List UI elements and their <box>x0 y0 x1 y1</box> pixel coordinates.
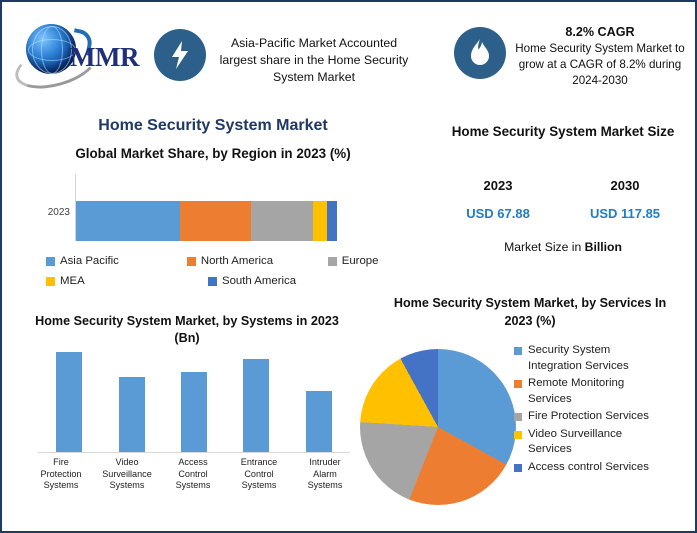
legend-item-north-america[interactable]: North America <box>187 255 328 267</box>
systems-category-label-1: VideoSurveillanceSystems <box>94 457 160 492</box>
legend-label: Asia Pacific <box>60 255 119 267</box>
systems-category-label-2: AccessControlSystems <box>160 457 226 492</box>
systems-chart-title: Home Security System Market, by Systems … <box>22 313 352 347</box>
legend-swatch-icon <box>46 277 55 286</box>
globe-icon <box>26 24 76 74</box>
market-size-value-2030: USD 117.85 <box>568 206 682 221</box>
services-legend-item-3[interactable]: Video SurveillanceServices <box>514 427 692 458</box>
systems-chart-category-labels: FireProtectionSystemsVideoSurveillanceSy… <box>28 457 358 492</box>
systems-chart-baseline <box>38 452 350 453</box>
infographic-page: MMR Asia-Pacific Market Accounted larges… <box>0 0 697 533</box>
region-chart-subtitle: Global Market Share, by Region in 2023 (… <box>18 146 408 161</box>
systems-category-label-4: IntruderAlarmSystems <box>292 457 358 492</box>
legend-swatch-icon <box>514 413 522 421</box>
systems-category-label-0: FireProtectionSystems <box>28 457 94 492</box>
legend-label: Access control Services <box>528 460 649 476</box>
systems-bar-1 <box>119 377 145 452</box>
region-segment-north-america <box>180 201 250 241</box>
cagr-body: Home Security System Market to grow at a… <box>514 41 686 89</box>
cagr-callout: 8.2% CAGR Home Security System Market to… <box>514 24 686 89</box>
legend-swatch-icon <box>514 431 522 439</box>
systems-category-label-3: EntranceControlSystems <box>226 457 292 492</box>
panel-divider <box>416 106 417 278</box>
legend-swatch-icon <box>208 277 217 286</box>
legend-label: North America <box>201 255 273 267</box>
legend-label: Video SurveillanceServices <box>528 427 622 458</box>
region-stacked-bar <box>76 201 337 241</box>
legend-swatch-icon <box>514 347 522 355</box>
flame-glyph <box>454 27 506 79</box>
services-chart-title: Home Security System Market, by Services… <box>380 294 680 330</box>
systems-column-chart <box>38 347 350 452</box>
market-size-year-2023: 2023 <box>446 178 550 193</box>
asia-pacific-note: Asia-Pacific Market Accounted largest sh… <box>214 35 414 86</box>
legend-swatch-icon <box>328 257 337 266</box>
systems-bar-2 <box>181 372 207 452</box>
region-segment-asia-pacific <box>76 201 180 241</box>
flame-icon <box>454 27 506 79</box>
market-size-unit-note: Market Size in Billion <box>438 240 688 254</box>
legend-item-europe[interactable]: Europe <box>328 255 406 267</box>
legend-swatch-icon <box>514 380 522 388</box>
services-legend-item-0[interactable]: Security SystemIntegration Services <box>514 343 692 374</box>
legend-label: Security SystemIntegration Services <box>528 343 629 374</box>
lightning-bolt-icon <box>154 29 206 81</box>
region-chart-title: Home Security System Market <box>18 117 408 135</box>
services-pie-chart <box>360 349 516 505</box>
header-band: MMR Asia-Pacific Market Accounted larges… <box>2 2 695 102</box>
region-chart-legend: Asia PacificNorth AmericaEuropeMEASouth … <box>46 255 406 295</box>
legend-label: Fire Protection Services <box>528 409 649 425</box>
legend-label: South America <box>222 275 296 287</box>
services-chart-legend: Security SystemIntegration ServicesRemot… <box>514 343 692 477</box>
region-segment-south-america <box>327 201 337 241</box>
systems-bar-0 <box>56 352 82 452</box>
legend-swatch-icon <box>187 257 196 266</box>
region-chart-category-label: 2023 <box>30 207 70 218</box>
legend-item-mea[interactable]: MEA <box>46 275 208 287</box>
legend-label: Remote MonitoringServices <box>528 376 624 407</box>
market-size-year-2030: 2030 <box>568 178 682 193</box>
services-legend-item-2[interactable]: Fire Protection Services <box>514 409 692 425</box>
services-legend-item-4[interactable]: Access control Services <box>514 460 692 476</box>
systems-bar-3 <box>243 359 269 452</box>
legend-item-asia-pacific[interactable]: Asia Pacific <box>46 255 187 267</box>
market-size-unit-prefix: Market Size in <box>504 240 585 254</box>
market-size-value-2023: USD 67.88 <box>446 206 550 221</box>
cagr-headline: 8.2% CAGR <box>514 24 686 40</box>
region-segment-mea <box>313 201 326 241</box>
lightning-bolt-glyph <box>154 29 206 81</box>
legend-swatch-icon <box>46 257 55 266</box>
legend-label: Europe <box>342 255 379 267</box>
region-segment-europe <box>251 201 314 241</box>
logo-wordmark: MMR <box>70 42 139 73</box>
services-legend-item-1[interactable]: Remote MonitoringServices <box>514 376 692 407</box>
systems-bar-4 <box>306 391 332 452</box>
market-size-unit-bold: Billion <box>585 240 622 254</box>
market-size-title: Home Security System Market Size <box>438 122 688 142</box>
mmr-logo: MMR <box>12 16 152 82</box>
legend-label: MEA <box>60 275 85 287</box>
legend-item-south-america[interactable]: South America <box>208 275 370 287</box>
legend-swatch-icon <box>514 464 522 472</box>
